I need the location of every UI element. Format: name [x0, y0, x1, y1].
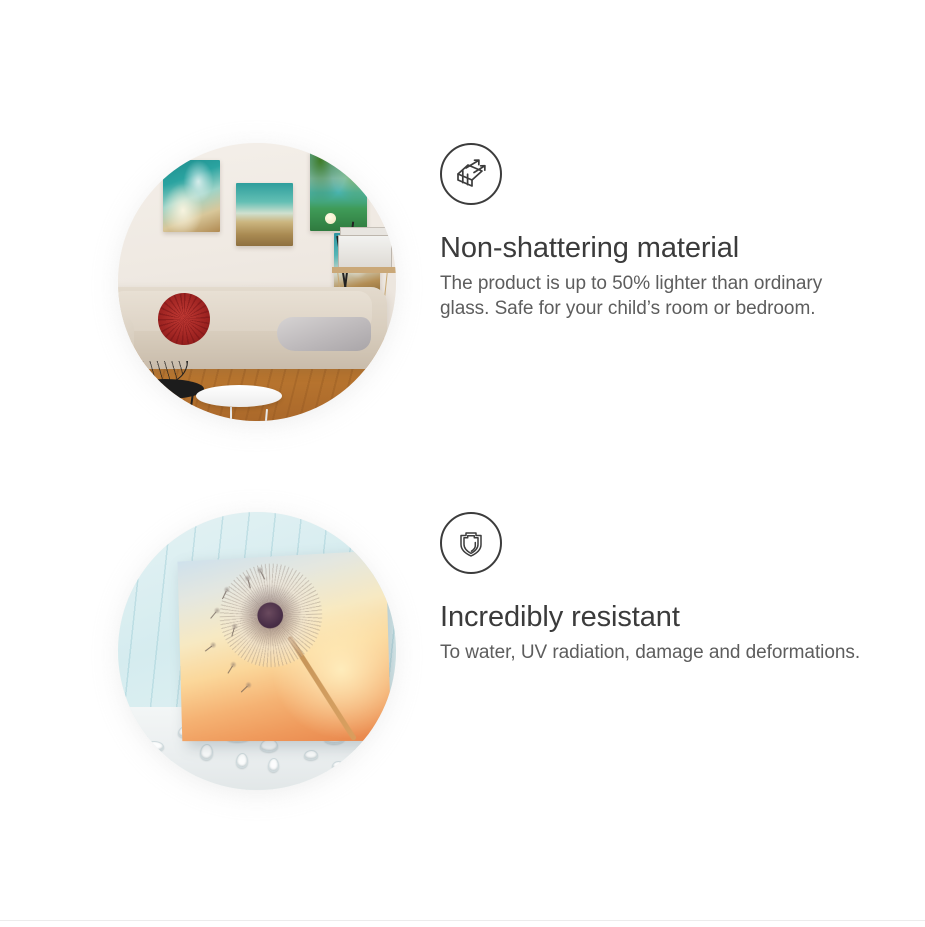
shield-icon: [440, 512, 502, 574]
white-round-side-table: [196, 385, 282, 407]
bottom-divider: [0, 920, 925, 921]
wall-art-print-1: [163, 160, 220, 232]
sofa-side-cushion: [118, 315, 134, 361]
red-round-cushion: [158, 293, 210, 345]
feature-title: Incredibly resistant: [440, 602, 880, 633]
water-droplet: [200, 744, 213, 760]
floating-seed: [241, 686, 248, 693]
water-droplet: [268, 758, 279, 772]
water-droplet: [304, 750, 318, 760]
floating-seed: [205, 646, 212, 652]
wall-art-print-3: [310, 151, 367, 231]
dandelion-photo-wrapper: [118, 512, 396, 790]
water-droplet: [142, 741, 164, 752]
feature-page: Non-shattering material The product is u…: [0, 0, 925, 927]
feature-text-incredibly-resistant: Incredibly resistant To water, UV radiat…: [440, 512, 880, 665]
living-room-wall-art-photo: [118, 143, 396, 421]
floor-lamp-bulb-1: [325, 213, 336, 224]
floating-seed: [228, 666, 233, 674]
feature-block-incredibly-resistant: Incredibly resistant To water, UV radiat…: [0, 512, 925, 792]
living-room-photo-wrapper: [118, 143, 396, 421]
feature-description: The product is up to 50% lighter than or…: [440, 271, 870, 321]
sofa: [118, 287, 387, 369]
dandelion-glass-print: [177, 550, 391, 741]
flexible-panel-arrows-icon: [440, 143, 502, 205]
water-droplet: [162, 767, 179, 776]
water-droplet: [332, 761, 344, 770]
white-table-leg-2: [230, 407, 232, 421]
wall-art-print-2: [236, 183, 293, 246]
feature-description: To water, UV radiation, damage and defor…: [440, 640, 870, 665]
black-round-coffee-table: [126, 379, 204, 399]
feature-block-non-shattering: Non-shattering material The product is u…: [0, 143, 925, 423]
water-droplet: [236, 753, 248, 768]
dandelion-glass-print-photo: [118, 512, 396, 790]
feature-text-non-shattering: Non-shattering material The product is u…: [440, 143, 880, 321]
record-player: [338, 235, 392, 269]
floating-seed: [210, 611, 216, 618]
grey-throw-blanket: [277, 317, 371, 351]
feature-title: Non-shattering material: [440, 233, 880, 264]
